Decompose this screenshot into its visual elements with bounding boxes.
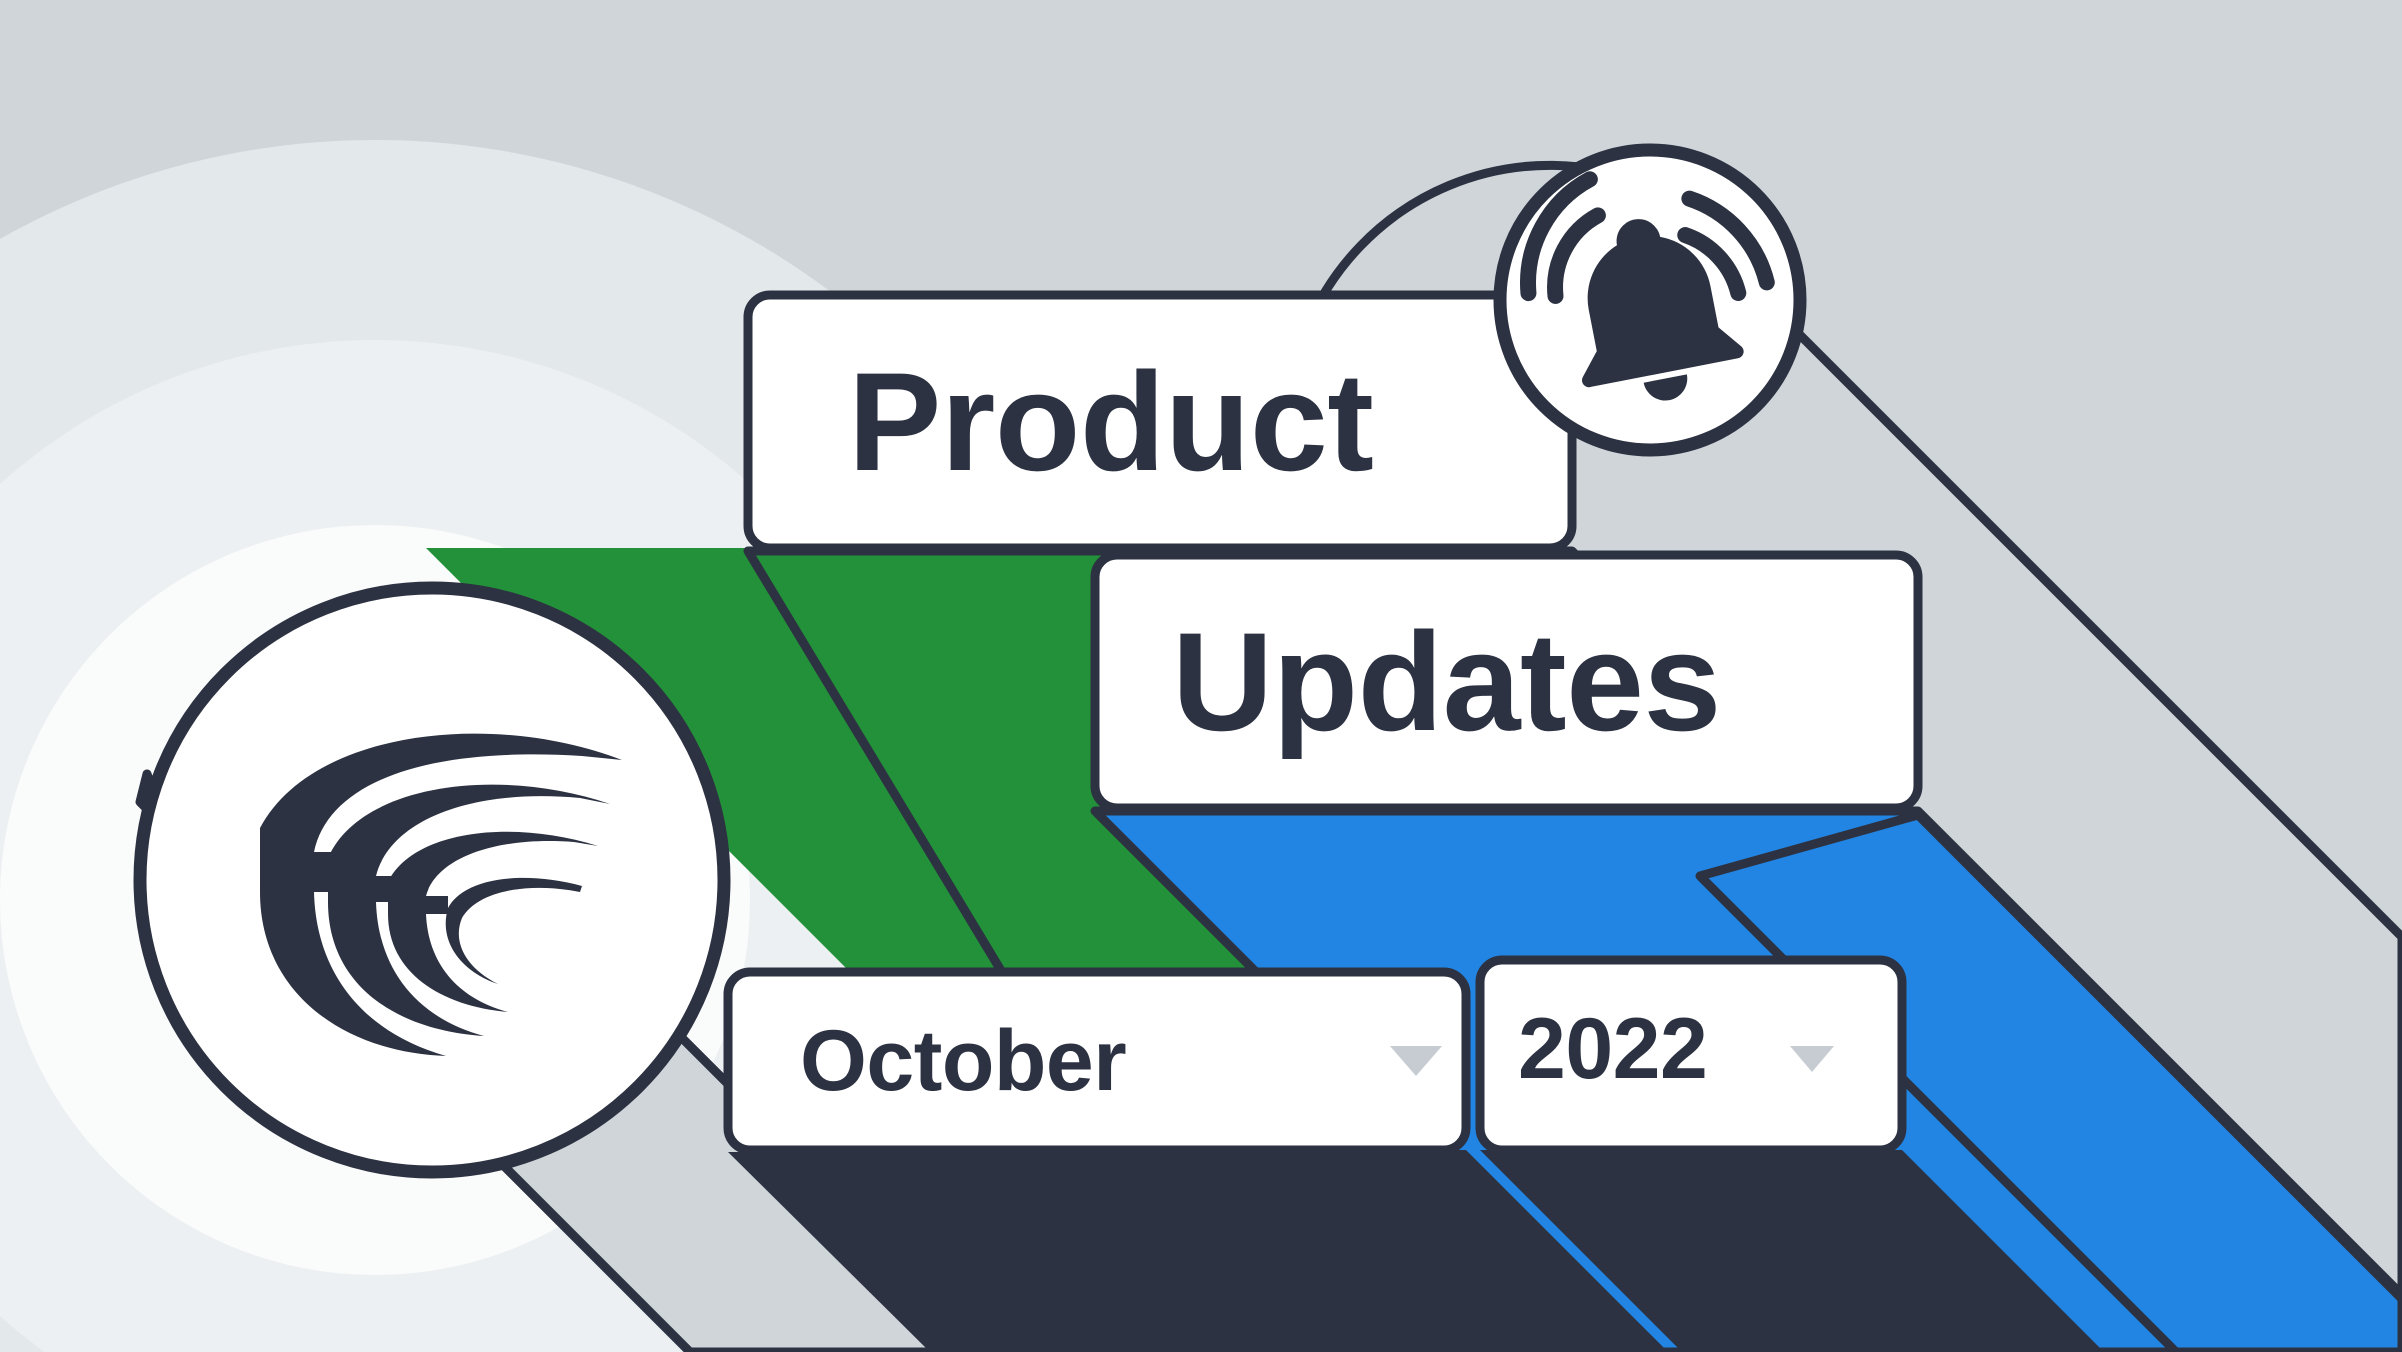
product-updates-banner: Product Updates October 2022	[0, 0, 2402, 1352]
bell-badge	[1500, 150, 1800, 450]
chevron-down-icon[interactable]	[1390, 1046, 1442, 1076]
banner-artwork	[0, 0, 2402, 1352]
month-select-card	[728, 972, 1466, 1150]
brand-logo-badge	[140, 588, 724, 1172]
chevron-down-icon[interactable]	[1790, 1046, 1834, 1072]
year-select-card	[1480, 960, 1902, 1150]
updates-card	[1095, 555, 1918, 808]
product-card	[748, 295, 1572, 548]
